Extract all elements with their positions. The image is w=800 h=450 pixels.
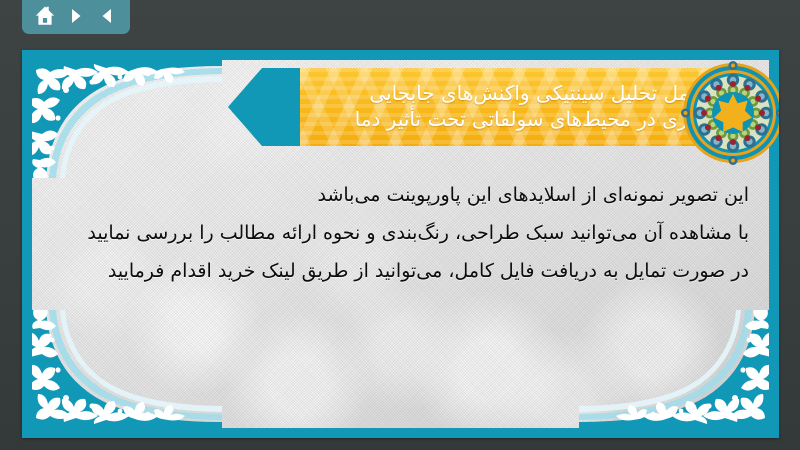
home-icon xyxy=(34,5,56,27)
home-button[interactable] xyxy=(32,3,58,29)
slide-body-text: این تصویر نمونه‌ای از اسلایدهای این پاور… xyxy=(52,182,749,296)
next-slide-button[interactable] xyxy=(63,3,89,29)
previous-slide-button[interactable] xyxy=(94,3,120,29)
body-line-2: با مشاهده آن می‌توانید سبک طراحی، رنگ‌بن… xyxy=(52,220,749,247)
triangle-left-icon xyxy=(97,6,117,26)
navigation-toolbar xyxy=(22,0,130,34)
slide-viewer: کامل تحلیل سینتیکی واکنش‌های جابجایی فلز… xyxy=(0,0,800,450)
presentation-slide[interactable]: کامل تحلیل سینتیکی واکنش‌های جابجایی فلز… xyxy=(22,50,779,438)
body-line-3: در صورت تمایل به دریافت فایل کامل، می‌تو… xyxy=(52,258,749,285)
triangle-right-icon xyxy=(66,6,86,26)
body-line-1: این تصویر نمونه‌ای از اسلایدهای این پاور… xyxy=(52,182,749,209)
